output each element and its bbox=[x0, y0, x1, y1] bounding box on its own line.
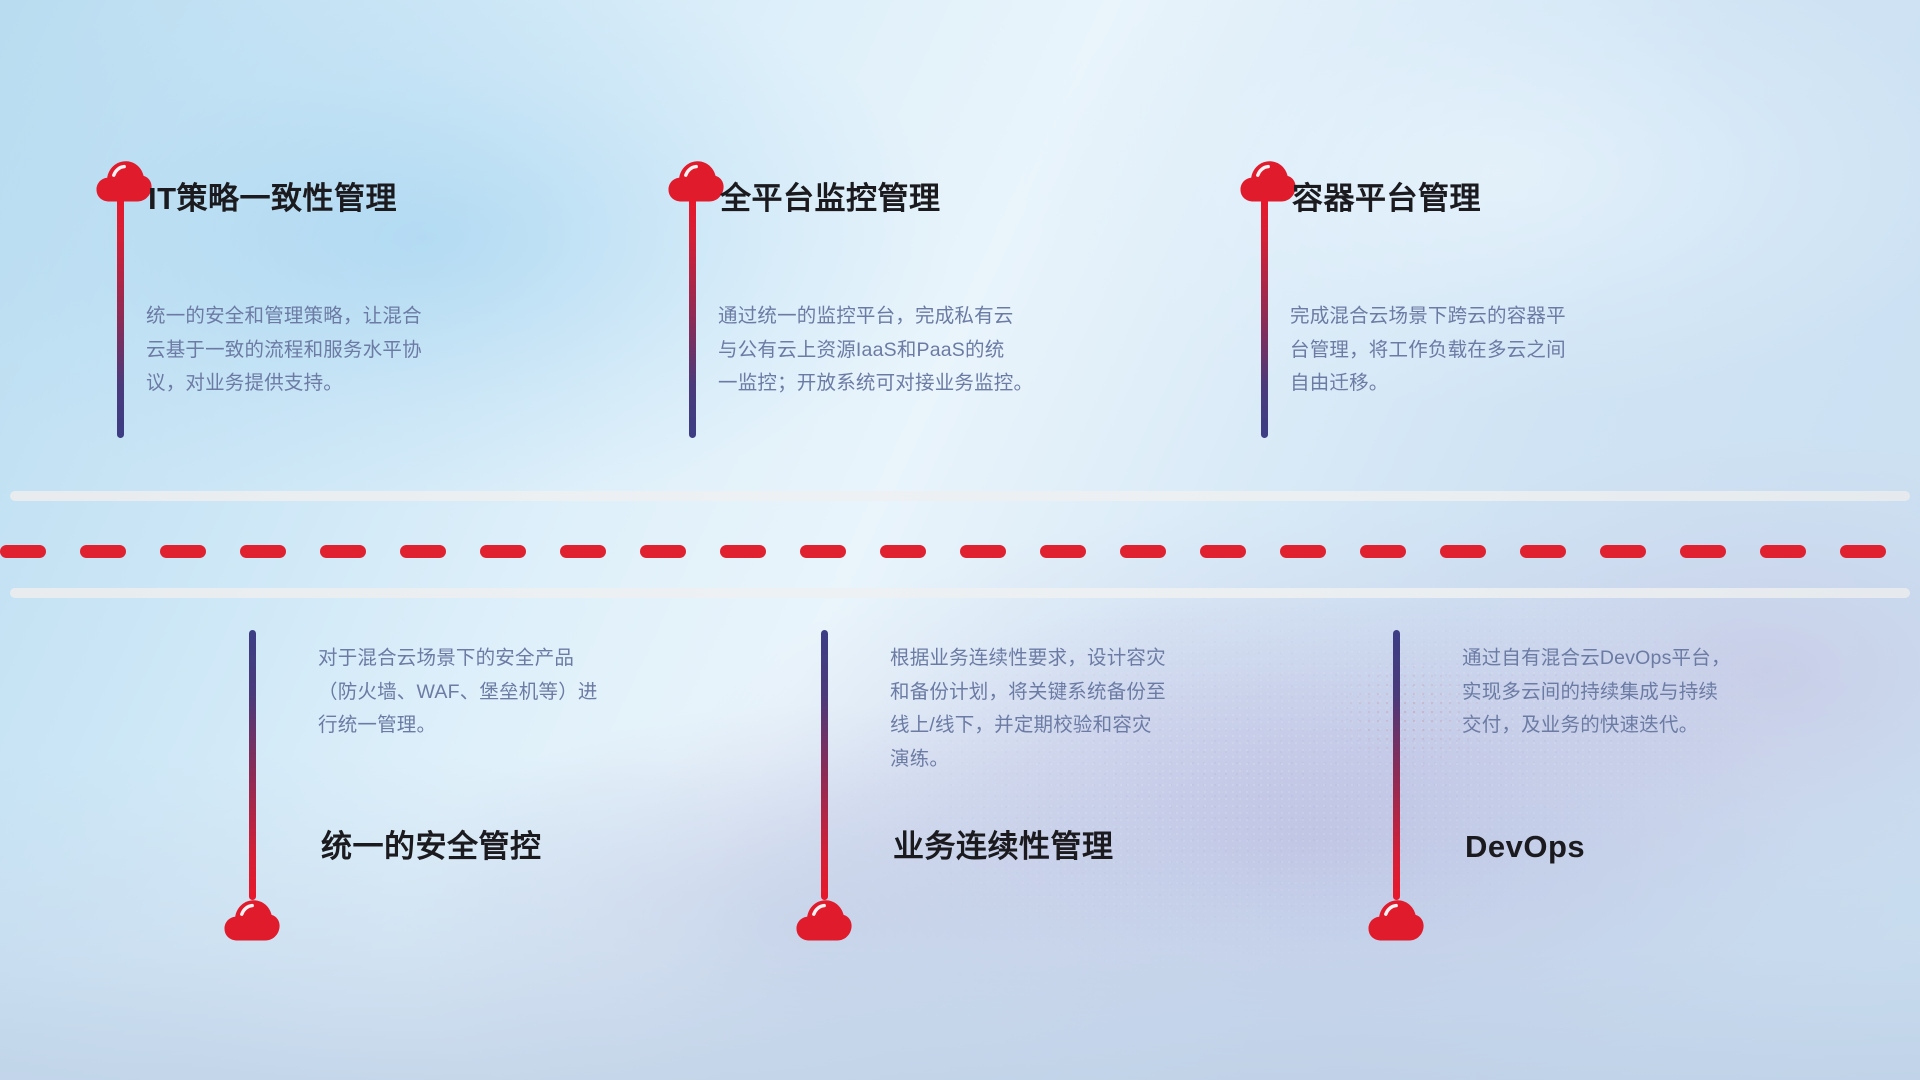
connector-stem bbox=[821, 630, 828, 900]
card-title: 统一的安全管控 bbox=[321, 830, 542, 864]
connector-stem bbox=[249, 630, 256, 900]
divider-dash bbox=[800, 545, 846, 558]
card-body: 根据业务连续性要求，设计容灾 和备份计划，将关键系统备份至 线上/线下，并定期校… bbox=[890, 642, 1260, 776]
connector-stem bbox=[117, 198, 124, 438]
background-dot-texture bbox=[0, 0, 1920, 1080]
cloud-icon bbox=[796, 899, 852, 941]
card-title: 容器平台管理 bbox=[1292, 182, 1481, 216]
background-red-dot-texture bbox=[0, 0, 1920, 1080]
divider-dash bbox=[1840, 545, 1886, 558]
background-bottom-glow bbox=[0, 0, 1920, 1080]
background-haze-lavender bbox=[0, 0, 1920, 1080]
divider-dash bbox=[240, 545, 286, 558]
divider-dash bbox=[880, 545, 926, 558]
divider-dash bbox=[1120, 545, 1166, 558]
divider-rail-top bbox=[10, 491, 1910, 501]
cloud-icon bbox=[1240, 160, 1296, 202]
cloud-icon bbox=[96, 160, 152, 202]
divider-dash bbox=[1040, 545, 1086, 558]
divider-rail-bottom bbox=[10, 588, 1910, 598]
divider-dash bbox=[480, 545, 526, 558]
connector-stem bbox=[689, 198, 696, 438]
divider-dash bbox=[0, 545, 46, 558]
card-title: 业务连续性管理 bbox=[893, 830, 1114, 864]
cloud-icon bbox=[1368, 899, 1424, 941]
divider-dash bbox=[1440, 545, 1486, 558]
card-body: 统一的安全和管理策略，让混合 云基于一致的流程和服务水平协 议，对业务提供支持。 bbox=[146, 300, 516, 401]
background-haze-purple bbox=[0, 0, 1920, 1080]
card-body: 通过自有混合云DevOps平台， 实现多云间的持续集成与持续 交付，及业务的快速… bbox=[1462, 642, 1832, 743]
divider-dash bbox=[1760, 545, 1806, 558]
background-haze-right bbox=[0, 0, 1920, 1080]
divider-dash bbox=[1280, 545, 1326, 558]
connector-stem bbox=[1393, 630, 1400, 900]
divider-dash bbox=[400, 545, 446, 558]
divider-dash bbox=[1360, 545, 1406, 558]
divider-dash bbox=[1600, 545, 1646, 558]
divider-dash bbox=[320, 545, 366, 558]
divider-dash bbox=[560, 545, 606, 558]
divider-dashed-line bbox=[0, 545, 1920, 558]
divider-dash bbox=[720, 545, 766, 558]
cloud-icon bbox=[668, 160, 724, 202]
card-body: 对于混合云场景下的安全产品 （防火墙、WAF、堡垒机等）进 行统一管理。 bbox=[318, 642, 688, 743]
card-title: IT策略一致性管理 bbox=[148, 182, 397, 216]
background-haze-topright bbox=[0, 0, 1920, 1080]
card-title: DevOps bbox=[1465, 830, 1585, 864]
divider-dash bbox=[1200, 545, 1246, 558]
cloud-icon bbox=[224, 899, 280, 941]
divider-dash bbox=[1520, 545, 1566, 558]
card-body: 通过统一的监控平台，完成私有云 与公有云上资源IaaS和PaaS的统 一监控；开… bbox=[718, 300, 1103, 401]
divider-dash bbox=[640, 545, 686, 558]
background-haze-topleft bbox=[0, 0, 1920, 1080]
divider-dash bbox=[960, 545, 1006, 558]
card-body: 完成混合云场景下跨云的容器平 台管理，将工作负载在多云之间 自由迁移。 bbox=[1290, 300, 1660, 401]
connector-stem bbox=[1261, 198, 1268, 438]
divider-dash bbox=[160, 545, 206, 558]
background-base bbox=[0, 0, 1920, 1080]
divider-dash bbox=[1680, 545, 1726, 558]
infographic-canvas: IT策略一致性管理 统一的安全和管理策略，让混合 云基于一致的流程和服务水平协 … bbox=[0, 0, 1920, 1080]
divider-dash bbox=[80, 545, 126, 558]
card-title: 全平台监控管理 bbox=[720, 182, 941, 216]
